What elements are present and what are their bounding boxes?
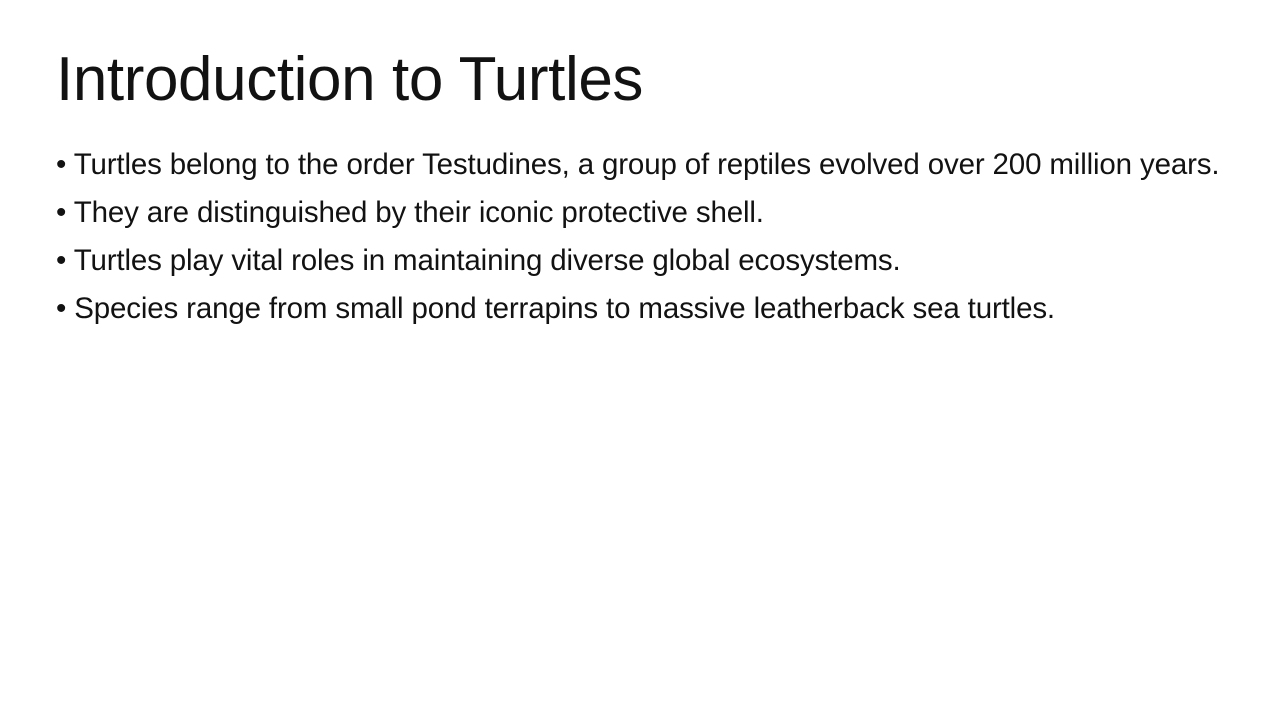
slide: Introduction to Turtles • Turtles belong… [0,0,1280,720]
bullet-item: • They are distinguished by their iconic… [56,194,1226,232]
bullet-item: • Turtles belong to the order Testudines… [56,146,1226,184]
bullet-item: • Species range from small pond terrapin… [56,290,1226,328]
bullet-point-icon: • [56,148,66,181]
bullet-item-label: They are distinguished by their iconic p… [74,196,764,229]
bullet-point-icon: • [56,196,66,229]
bullet-item-label: Turtles belong to the order Testudines, … [74,148,1220,181]
slide-body-text: • Turtles belong to the order Testudines… [56,146,1226,328]
bullet-item-label: Species range from small pond terrapins … [74,292,1055,325]
slide-title: Introduction to Turtles [56,46,1226,114]
bullet-item-label: Turtles play vital roles in maintaining … [74,244,901,277]
bullet-item: • Turtles play vital roles in maintainin… [56,242,1226,280]
bullet-point-icon: • [56,292,66,325]
bullet-point-icon: • [56,244,66,277]
